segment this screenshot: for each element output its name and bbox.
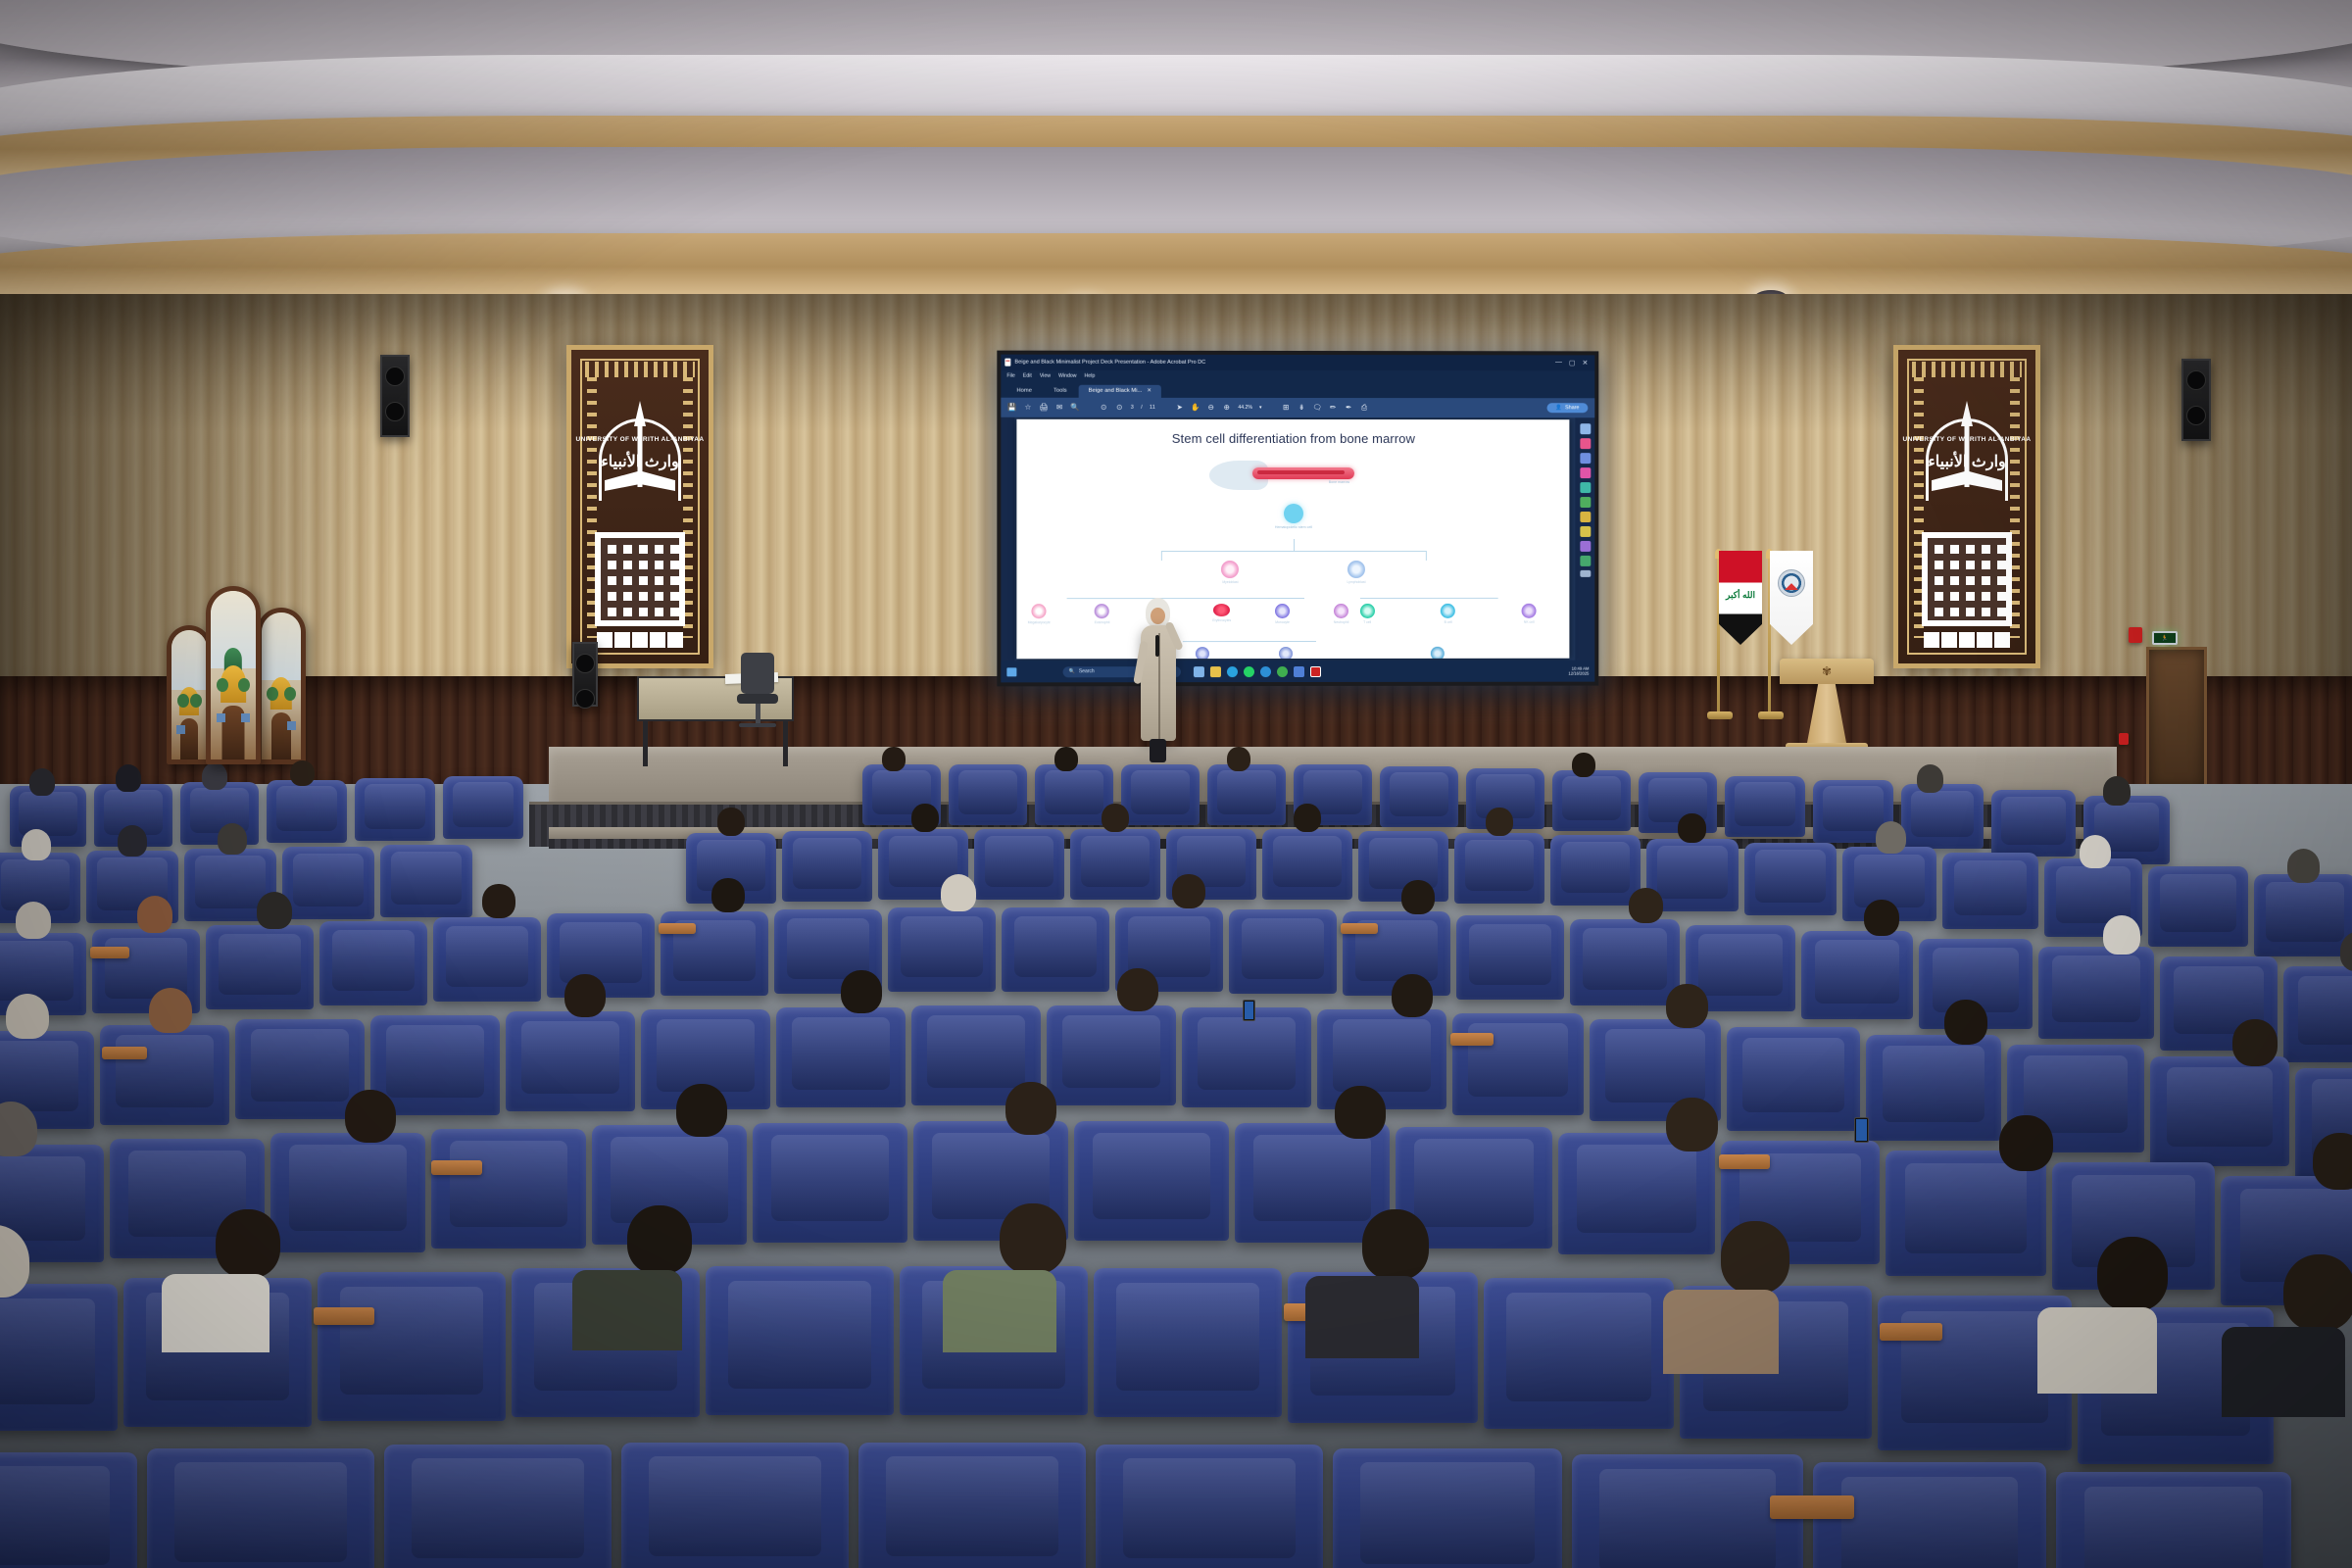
main-toolbar: 💾 ☆ 🖨 ✉ 🔍 ⊙ ⊙ 3 / 11 ➤ ✋ ⊖ ⊕ 44.2% ▾ ⊞ xyxy=(1001,398,1594,418)
branch-line xyxy=(1360,598,1498,599)
university-flag xyxy=(1770,551,1813,645)
seat[interactable] xyxy=(1552,770,1631,831)
plasma-cell-dot xyxy=(1430,647,1444,659)
mosaic-wall-art-group xyxy=(167,568,314,764)
seat[interactable] xyxy=(0,1452,137,1568)
seat-writing-tablet[interactable] xyxy=(1719,1154,1770,1169)
university-name-arabic: وارث الأنبياء xyxy=(571,452,709,471)
seat[interactable] xyxy=(1229,909,1337,994)
seat[interactable] xyxy=(1744,843,1837,915)
page-fit-icon[interactable]: ⊞ xyxy=(1282,403,1291,412)
university-emblem-panel-right: UNIVERSITY OF WARITH AL-ANBIYAA وارث الأ… xyxy=(1893,345,2040,668)
seat-writing-tablet[interactable] xyxy=(1450,1033,1494,1046)
erythrocytes-dot xyxy=(1213,604,1230,616)
blast-cell-tier: Myeloblast Lymphoblast xyxy=(1016,561,1569,584)
share-button-label: Share xyxy=(1565,405,1579,411)
bone-marrow-label: Bone marrow xyxy=(1329,480,1349,484)
seat[interactable] xyxy=(147,1448,374,1568)
macrophage-dot xyxy=(1279,647,1293,659)
seat[interactable] xyxy=(1942,853,2038,929)
lymphoid-cell: B cell xyxy=(1441,604,1455,624)
kufic-calligraphy-block xyxy=(595,532,685,626)
search-icon[interactable]: 🔍 xyxy=(1071,403,1080,412)
document-tab-bar: Home Tools Beige and Black Mi... ✕ xyxy=(1001,381,1594,399)
search-icon: 🔍 xyxy=(1069,668,1075,674)
share-button[interactable]: 👤 Share xyxy=(1546,403,1588,413)
tab-document-label: Beige and Black Mi... xyxy=(1089,388,1143,394)
seat[interactable] xyxy=(1182,1007,1311,1107)
seat[interactable] xyxy=(1456,915,1564,1000)
neutrophil-dot xyxy=(1334,604,1348,618)
panel-top-pattern xyxy=(585,362,695,377)
lymphoid-cell: NK cell xyxy=(1522,604,1537,624)
lymphoblast-label: Lymphoblast xyxy=(1347,580,1365,584)
seat[interactable] xyxy=(1207,764,1286,825)
seat[interactable] xyxy=(753,1123,907,1243)
lymphoid-cell-tier: T cell B cell NK cell xyxy=(1360,604,1537,624)
seat[interactable] xyxy=(384,1445,612,1568)
window-title-bar: Beige and Black Minimalist Project Deck … xyxy=(1001,355,1594,371)
blue-app-icon[interactable] xyxy=(1294,665,1304,676)
zoom-out-icon[interactable]: ⊖ xyxy=(1206,403,1215,412)
lymphoblast-cell: Lymphoblast xyxy=(1347,561,1365,584)
zoom-dropdown-caret-icon[interactable]: ▾ xyxy=(1259,405,1262,411)
menu-view[interactable]: View xyxy=(1040,372,1051,378)
derived-cell: Plasma cell xyxy=(1429,647,1445,659)
save-icon[interactable]: 💾 xyxy=(1007,403,1016,412)
star-icon[interactable]: ☆ xyxy=(1023,403,1032,412)
auditorium-photo: UNIVERSITY OF WARITH AL-ANBIYAA وارث الأ… xyxy=(0,0,2352,1568)
derived-cell: Dendritic cell xyxy=(1193,647,1211,659)
lymphoid-cell: T cell xyxy=(1360,604,1375,624)
stamp-icon[interactable]: ⎙ xyxy=(1360,404,1369,413)
zoom-in-icon[interactable]: ⊕ xyxy=(1222,403,1231,412)
myeloid-cell: Erythrocytes xyxy=(1212,604,1231,624)
seat[interactable] xyxy=(1070,829,1160,900)
monocyte-dot xyxy=(1275,604,1290,618)
myeloblast-label: Myeloblast xyxy=(1222,580,1238,584)
right-tools-panel xyxy=(1575,417,1594,660)
branch-line xyxy=(1183,641,1315,642)
iraq-flag: الله أكبر xyxy=(1719,551,1762,645)
nk-cell-dot xyxy=(1522,604,1537,618)
stem-cell-label: Hematopoietic stem cell xyxy=(1275,525,1312,529)
menu-edit[interactable]: Edit xyxy=(1023,372,1032,378)
seat[interactable] xyxy=(1454,833,1544,904)
myeloblast-cell: Myeloblast xyxy=(1221,561,1239,584)
seat[interactable] xyxy=(1121,764,1200,825)
seat[interactable] xyxy=(1801,931,1913,1019)
seat[interactable] xyxy=(782,831,872,902)
organize-pages-tool-icon[interactable] xyxy=(1580,497,1591,508)
eosinophil-dot xyxy=(1095,604,1109,618)
menu-window[interactable]: Window xyxy=(1058,372,1077,378)
comment-icon[interactable]: 🗨 xyxy=(1313,404,1322,413)
seat[interactable] xyxy=(319,921,427,1005)
branch-line xyxy=(1160,551,1426,552)
windows-start-icon[interactable] xyxy=(1006,667,1016,676)
wall-speaker xyxy=(572,642,598,707)
exit-sign: 🏃 xyxy=(2152,631,2178,645)
tab-close-icon[interactable]: ✕ xyxy=(1147,388,1151,394)
exit-door[interactable] xyxy=(2146,647,2207,792)
flag-base xyxy=(1707,711,1733,719)
seat[interactable] xyxy=(888,907,996,992)
myeloid-cell: Eosinophil xyxy=(1095,604,1110,624)
document-viewer: Stem cell differentiation from bone marr… xyxy=(1001,417,1594,661)
create-pdf-tool-icon[interactable] xyxy=(1580,453,1591,464)
seat[interactable] xyxy=(1550,835,1641,906)
derived-cell-tier: Dendritic cell Macrophage xyxy=(1160,647,1326,659)
seat[interactable] xyxy=(2254,874,2352,956)
seat[interactable] xyxy=(1380,766,1458,827)
seat-writing-tablet[interactable] xyxy=(102,1047,147,1059)
marrow-cavity-shape xyxy=(1252,467,1354,479)
seat[interactable] xyxy=(776,1007,906,1107)
seat[interactable] xyxy=(2056,1472,2291,1568)
smartphone[interactable] xyxy=(1243,1000,1255,1021)
myeloid-cell-tier: Megakaryocyte Eosinophil Basophil E xyxy=(1028,604,1349,624)
seat[interactable] xyxy=(282,847,374,919)
highlight-pen-icon[interactable]: ✏ xyxy=(1329,404,1338,413)
left-navigation-rail[interactable] xyxy=(1001,417,1014,661)
scroll-mode-icon[interactable]: ⇟ xyxy=(1298,403,1306,412)
podium-stem xyxy=(1807,684,1846,743)
seat-writing-tablet[interactable] xyxy=(1770,1495,1854,1519)
tab-tools[interactable]: Tools xyxy=(1044,385,1077,398)
panel-top-pattern xyxy=(1912,362,2022,377)
page-number-current[interactable]: 3 xyxy=(1131,405,1134,411)
fill-sign-tool-icon[interactable] xyxy=(1580,512,1591,522)
panel-bottom-squares xyxy=(597,632,683,650)
wall-speaker xyxy=(2181,359,2211,441)
edge-icon[interactable] xyxy=(1260,666,1271,677)
seat[interactable] xyxy=(1572,1454,1803,1568)
chrome-icon[interactable] xyxy=(1277,666,1288,677)
minimize-button[interactable]: — xyxy=(1555,359,1562,367)
seat[interactable] xyxy=(433,917,541,1002)
comment-tool-icon[interactable] xyxy=(1580,526,1591,537)
university-name-text: UNIVERSITY OF WARITH AL-ANBIYAA xyxy=(1903,436,2032,443)
eosinophil-label: Eosinophil xyxy=(1095,620,1110,624)
seat-writing-tablet[interactable] xyxy=(431,1160,482,1175)
university-name-text: UNIVERSITY OF WARITH AL-ANBIYAA xyxy=(576,436,705,443)
seat[interactable] xyxy=(1901,784,1984,849)
seat[interactable] xyxy=(1074,1121,1229,1241)
seat[interactable] xyxy=(1725,776,1805,837)
seat[interactable] xyxy=(2038,947,2154,1039)
fire-alarm-device xyxy=(2129,627,2142,643)
seat[interactable] xyxy=(1317,1009,1446,1109)
page-number-separator: / xyxy=(1141,405,1143,411)
taskbar-clock[interactable]: 10:49 AM 12/16/2025 xyxy=(1568,665,1589,676)
maximize-button[interactable]: ▢ xyxy=(1569,359,1576,367)
panel-bottom-squares xyxy=(1924,632,2010,650)
presenter-face xyxy=(1151,608,1165,624)
export-pdf-tool-icon[interactable] xyxy=(1580,438,1591,449)
combine-files-tool-icon[interactable] xyxy=(1580,482,1591,493)
protect-tool-icon[interactable] xyxy=(1580,556,1591,566)
iraq-flag-text: الله أكبر xyxy=(1719,590,1762,601)
fire-alarm-device xyxy=(2119,733,2129,745)
file-explorer-icon[interactable] xyxy=(1210,666,1221,677)
sign-icon[interactable]: ✒ xyxy=(1345,404,1353,413)
seat[interactable] xyxy=(706,1266,894,1415)
podium-crest-icon: ✾ xyxy=(1819,663,1835,679)
exit-sign-icon: 🏃 xyxy=(2161,635,2168,642)
branch-line xyxy=(1160,551,1161,561)
b-cell-dot xyxy=(1441,604,1455,618)
t-cell-label: T cell xyxy=(1363,620,1371,624)
myeloid-cell: Megakaryocyte xyxy=(1028,604,1051,624)
adobe-acrobat-icon[interactable] xyxy=(1310,665,1321,676)
page-down-icon[interactable]: ⊙ xyxy=(1115,403,1124,412)
search-placeholder-text: Search xyxy=(1079,668,1095,674)
seat[interactable] xyxy=(1094,1268,1282,1417)
seat[interactable] xyxy=(1047,1005,1176,1105)
acrobat-document-icon xyxy=(1004,359,1010,367)
presenter-legs xyxy=(1150,739,1166,762)
seat[interactable] xyxy=(318,1272,506,1421)
audience-seating xyxy=(0,794,2352,1568)
seat[interactable] xyxy=(270,1133,425,1252)
seat[interactable] xyxy=(100,1025,229,1125)
pdf-page-canvas[interactable]: Stem cell differentiation from bone marr… xyxy=(1016,419,1569,660)
plasma-cell-tier: Plasma cell xyxy=(1382,647,1493,660)
university-flag-emblem-icon xyxy=(1778,569,1805,597)
b-cell-label: B cell xyxy=(1445,620,1452,624)
derived-cell: Macrophage xyxy=(1276,647,1295,659)
slide-title: Stem cell differentiation from bone marr… xyxy=(1016,431,1569,446)
search-tool-icon[interactable] xyxy=(1580,423,1591,434)
menu-file[interactable]: File xyxy=(1006,372,1014,378)
mosaic-art-panel xyxy=(257,608,306,764)
seat[interactable] xyxy=(506,1011,635,1111)
university-name-arabic: وارث الأنبياء xyxy=(1898,452,2035,471)
seat[interactable] xyxy=(1866,1035,2001,1141)
hematopoietic-stem-cell-dot xyxy=(1284,504,1303,523)
seat[interactable] xyxy=(0,1284,118,1431)
myeloid-cell: Neutrophil xyxy=(1334,604,1348,624)
erythrocytes-label: Erythrocytes xyxy=(1212,618,1231,622)
measure-tool-icon[interactable] xyxy=(1580,541,1591,552)
seat[interactable] xyxy=(1570,919,1680,1005)
seat[interactable] xyxy=(2150,1056,2289,1166)
university-year: 2017 xyxy=(571,473,709,483)
share-person-icon: 👤 xyxy=(1555,405,1562,411)
t-cell-dot xyxy=(1360,604,1375,618)
seat[interactable] xyxy=(2283,966,2352,1062)
seat-writing-tablet[interactable] xyxy=(1341,923,1378,934)
branch-line xyxy=(1294,539,1295,551)
neutrophil-label: Neutrophil xyxy=(1334,620,1348,624)
nk-cell-label: NK cell xyxy=(1524,620,1535,624)
adobe-acrobat-window: Beige and Black Minimalist Project Deck … xyxy=(1001,355,1594,683)
telegram-icon[interactable] xyxy=(1227,666,1238,677)
megakaryocyte-label: Megakaryocyte xyxy=(1028,620,1051,624)
seat-writing-tablet[interactable] xyxy=(90,947,129,958)
branch-line xyxy=(1066,598,1304,599)
podium-top: ✾ xyxy=(1780,659,1874,684)
seat[interactable] xyxy=(621,1443,849,1568)
seat[interactable] xyxy=(1262,829,1352,900)
seat[interactable] xyxy=(206,925,314,1009)
seat[interactable] xyxy=(949,764,1027,825)
seat[interactable] xyxy=(858,1443,1086,1568)
seat[interactable] xyxy=(1991,790,2076,857)
page-up-icon[interactable]: ⊙ xyxy=(1100,403,1108,412)
university-year: 2017 xyxy=(1898,473,2035,483)
office-chair xyxy=(737,653,778,739)
seat[interactable] xyxy=(1096,1445,1323,1568)
zoom-level-value[interactable]: 44.2% xyxy=(1238,405,1252,411)
mosaic-art-panel xyxy=(206,586,261,764)
monocyte-label: Monocyte xyxy=(1275,620,1290,624)
megakaryocyte-dot xyxy=(1032,604,1047,618)
seat[interactable] xyxy=(443,776,523,839)
seat-writing-tablet[interactable] xyxy=(659,923,696,934)
menu-bar: File Edit View Window Help xyxy=(1001,370,1594,382)
seat[interactable] xyxy=(235,1019,365,1119)
window-controls: — ▢ ✕ xyxy=(1555,359,1591,367)
presenter xyxy=(1137,596,1180,762)
seat[interactable] xyxy=(2148,866,2248,947)
more-tools-icon[interactable] xyxy=(1580,570,1591,577)
tab-home[interactable]: Home xyxy=(1006,385,1042,398)
window-title-text: Beige and Black Minimalist Project Deck … xyxy=(1014,360,1205,366)
lymphoblast-dot xyxy=(1347,561,1365,578)
myeloblast-dot xyxy=(1221,561,1239,578)
select-cursor-icon[interactable]: ➤ xyxy=(1175,403,1184,412)
whatsapp-icon[interactable] xyxy=(1244,666,1254,677)
seat[interactable] xyxy=(974,829,1064,900)
branch-line xyxy=(1426,551,1427,561)
bone-marrow-illustration: Bone marrow xyxy=(1209,459,1356,492)
print-icon[interactable]: 🖨 xyxy=(1039,403,1048,412)
projection-screen: Beige and Black Minimalist Project Deck … xyxy=(997,351,1598,687)
hand-tool-icon[interactable]: ✋ xyxy=(1191,403,1200,412)
wall-speaker xyxy=(380,355,410,437)
smartphone[interactable] xyxy=(1854,1117,1869,1143)
seat[interactable] xyxy=(380,845,472,917)
seat[interactable] xyxy=(1002,907,1109,992)
kufic-calligraphy-block xyxy=(1922,532,2012,626)
email-icon[interactable]: ✉ xyxy=(1055,403,1064,412)
edit-pdf-tool-icon[interactable] xyxy=(1580,467,1591,478)
windows-taskbar: 🔍 Search 10:49 AM 12/16/2025 xyxy=(1001,661,1594,683)
microphone xyxy=(1155,635,1159,657)
seat[interactable] xyxy=(1333,1448,1562,1568)
clock-date: 12/16/2025 xyxy=(1568,671,1589,676)
seat[interactable] xyxy=(355,778,435,841)
ceiling xyxy=(0,0,2352,323)
university-emblem-panel-left: UNIVERSITY OF WARITH AL-ANBIYAA وارث الأ… xyxy=(566,345,713,668)
seat[interactable] xyxy=(1484,1278,1674,1429)
seat-writing-tablet[interactable] xyxy=(314,1307,374,1325)
seat-writing-tablet[interactable] xyxy=(1880,1323,1942,1341)
seat[interactable] xyxy=(1727,1027,1860,1131)
task-view-icon[interactable] xyxy=(1194,666,1204,677)
tab-document[interactable]: Beige and Black Mi... ✕ xyxy=(1079,385,1161,398)
close-button[interactable]: ✕ xyxy=(1582,359,1588,367)
myeloid-cell: Monocyte xyxy=(1275,604,1290,624)
page-number-total: 11 xyxy=(1150,405,1155,411)
seat[interactable] xyxy=(1452,1013,1584,1115)
seat[interactable] xyxy=(267,780,347,843)
seat[interactable] xyxy=(431,1129,586,1249)
taskbar-app-icons xyxy=(1194,665,1321,676)
dendritic-cell-dot xyxy=(1196,647,1209,659)
menu-help[interactable]: Help xyxy=(1085,372,1096,378)
